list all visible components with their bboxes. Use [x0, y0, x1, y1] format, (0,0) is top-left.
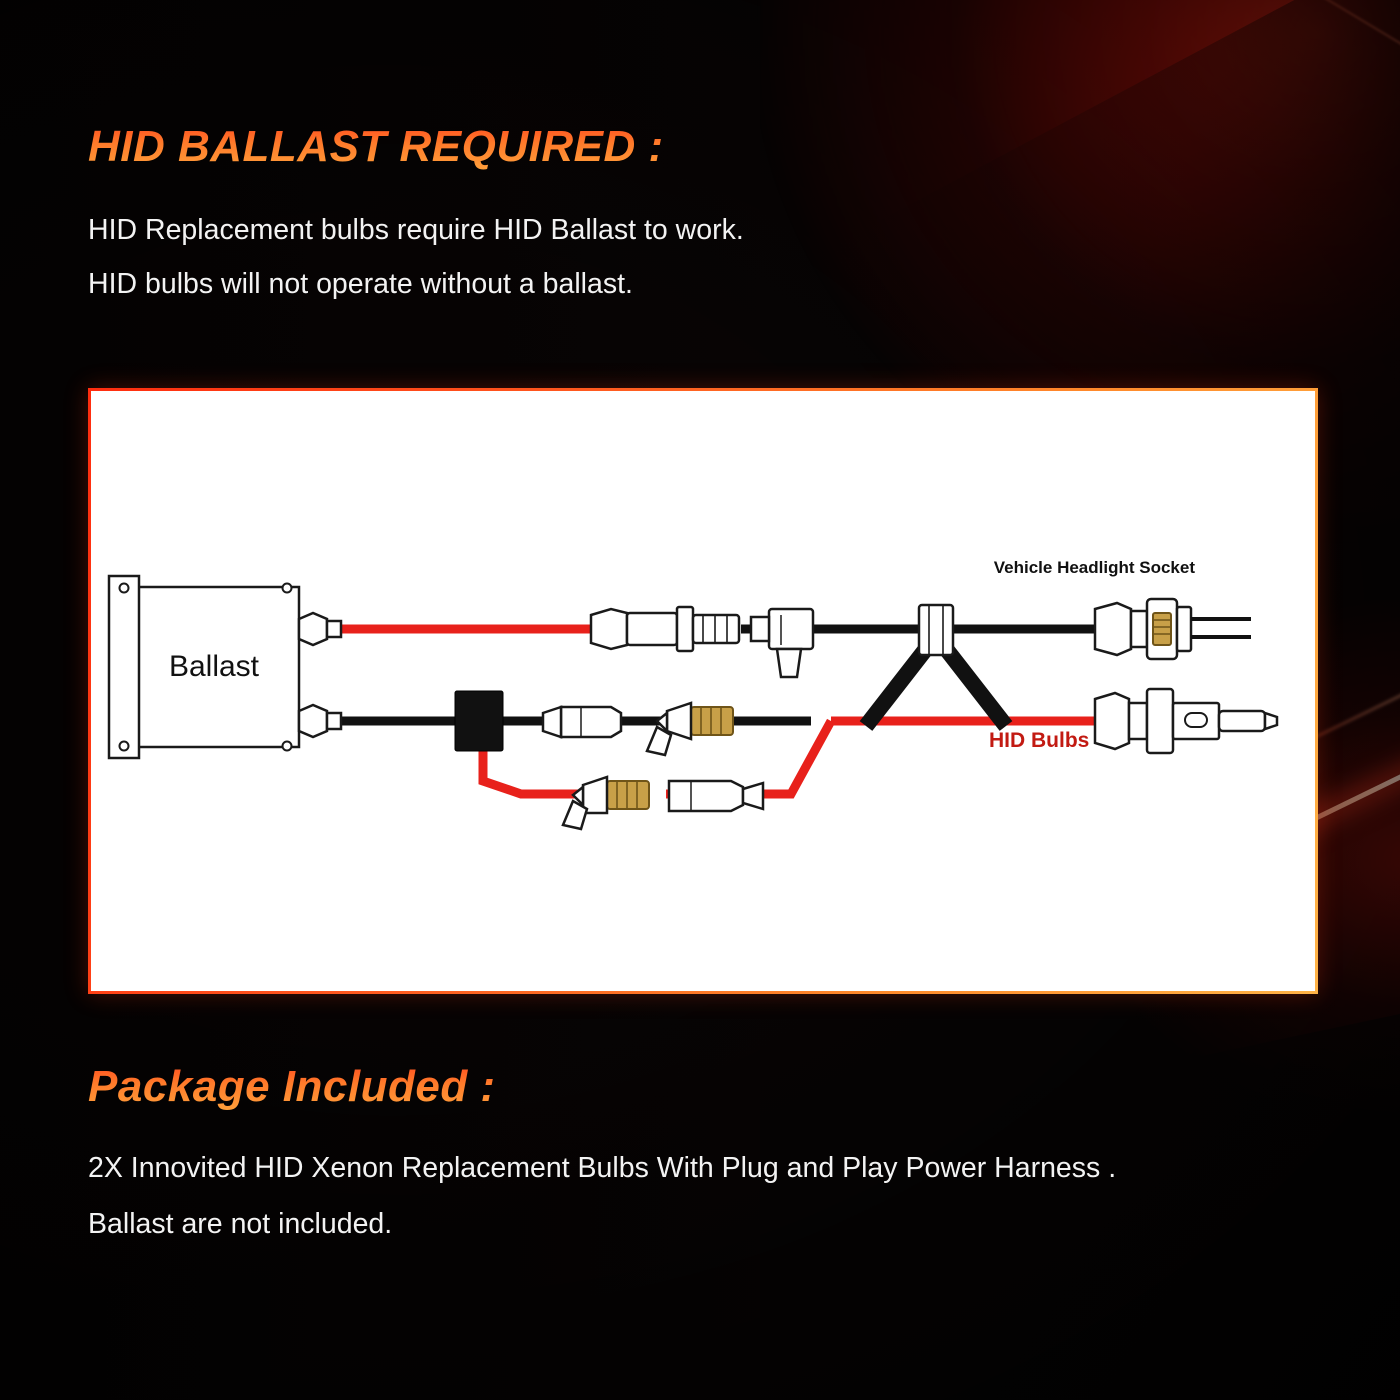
- noise-filter-box: [455, 691, 503, 751]
- section-heading-ballast-required: HID BALLAST REQUIRED :: [88, 122, 664, 172]
- vehicle-headlight-socket: [1095, 599, 1251, 659]
- hid-bulbs-label: HID Bulbs: [989, 729, 1089, 752]
- ballast-required-line-2: HID bulbs will not operate without a bal…: [88, 268, 633, 301]
- package-included-line-2: Ballast are not included.: [88, 1208, 392, 1241]
- hid-bulb: [1095, 689, 1277, 753]
- spade-connector-lower-1: [543, 707, 621, 737]
- ballast-required-line-1: HID Replacement bulbs require HID Ballas…: [88, 214, 744, 247]
- wiring-diagram-svg: Ballast: [91, 391, 1315, 991]
- socket-label: Vehicle Headlight Socket: [994, 558, 1196, 577]
- ballast-label: Ballast: [169, 650, 260, 683]
- package-included-line-1: 2X Innovited HID Xenon Replacement Bulbs…: [88, 1152, 1116, 1185]
- brass-bullet-connector-1: [647, 703, 733, 755]
- harness-clamp: [919, 605, 953, 655]
- inline-barrel-connector: [591, 607, 739, 651]
- right-angle-plug-top: [751, 609, 813, 677]
- brass-bullet-connector-2: [563, 777, 649, 829]
- section-heading-package-included: Package Included :: [88, 1062, 496, 1112]
- spade-connector-lower-2: [669, 781, 763, 811]
- wiring-diagram-panel: Ballast: [88, 388, 1318, 994]
